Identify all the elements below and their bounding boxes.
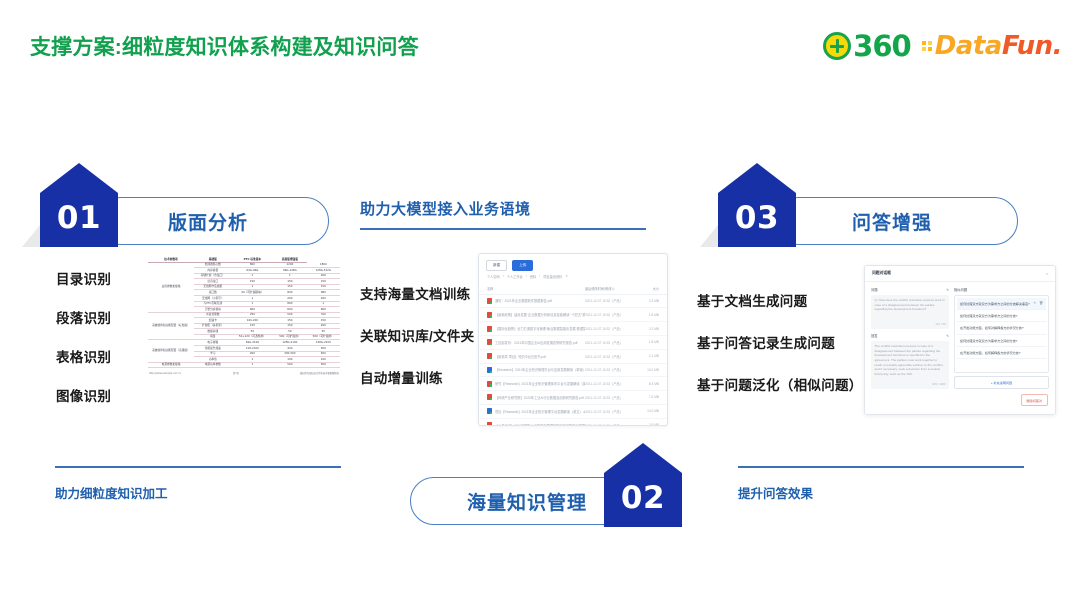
table-footer-right: 版权所有侵权必究所有技术参数解释权: [245, 370, 340, 376]
breadcrumb-sep: ›: [526, 274, 527, 278]
doclist-row-meta: 2021-12-07 10:33（产品）: [585, 340, 637, 345]
doclist-row-size: 8.4 MB: [637, 382, 659, 386]
screenshot-layout-table: 技术参数项 基础版 PTC 标准版本 高级版增强版 主机参数和规格处理器核心数8…: [148, 257, 340, 397]
doclist-row-meta: 2021-12-07 10:33（产品）: [585, 395, 637, 400]
doclist-row[interactable]: 【最新政策】建设发展·企业数据分析和信息智能解读·“十四五”重点项目综…2021…: [479, 308, 667, 322]
add-similar-question-button[interactable]: + 补充说明问题: [954, 376, 1049, 389]
doclist-row-name: 【最新政策】建设发展·企业数据分析和信息智能解读·“十四五”重点项目综…: [495, 312, 585, 317]
file-pdf-icon: [487, 381, 492, 387]
badge-pentagon-02: 02: [604, 443, 682, 527]
doclist-header-row: 名称 最后修改时间/修改人 大小: [479, 283, 667, 295]
table-footer-row: http://www.example.com.cn 第7页 版权所有侵权必究所有…: [148, 370, 340, 376]
close-icon[interactable]: ×: [1046, 272, 1048, 276]
bullet-item: 基于文档生成问题: [697, 290, 863, 310]
qa-similar-item[interactable]: 如何处理双方就双方为需求方之间的分歧解决事宜?✎🗑: [957, 298, 1046, 310]
doclist-row-name: 项目【Research】2021年企业知识管理平台发展解读（英文）.docx: [495, 409, 585, 414]
middle-heading-rule: [360, 228, 646, 230]
middle-column-heading: 助力大模型接入业务语境: [360, 198, 531, 219]
qa-similar-text: 如何处理双方就双方为需求方之间的分歧解决事宜?: [960, 301, 1030, 306]
file-pdf-icon: [487, 312, 492, 318]
breadcrumb-sep: ›: [539, 274, 540, 278]
doclist-row-size: 14.0 MB: [637, 409, 659, 413]
doclist-col-name: 名称: [487, 286, 585, 291]
page-title: 支撑方案:细粒度知识体系构建及知识问答: [30, 31, 419, 61]
qa-dialog-footer: 删除问答对: [865, 394, 1055, 411]
doclist-row-size: 2.1 MB: [637, 354, 659, 358]
doclist-row-meta: 2021-12-07 10:32（产品）: [585, 312, 637, 317]
qa-similar-text: 在开发功能方面，如何解释各方的状况分歧?: [960, 350, 1021, 355]
doclist-row-name: 工信部发布：2021年中国企业AI应用发展态势研究报告.pdf: [495, 340, 577, 345]
doclist-row[interactable]: 【公益活动】2021年国际人工智能在数据研究和应用智能化发展分析报告.pdf20…: [479, 419, 667, 426]
doclist-row-size: 3.2 MB: [637, 327, 659, 331]
breadcrumb-item[interactable]: 项目建设资料: [543, 274, 562, 279]
qa-similar-item[interactable]: 如何处理双方就双方为需求方之间的分歧?: [957, 310, 1046, 322]
breadcrumb-item[interactable]: 资料: [530, 274, 536, 279]
doclist-row[interactable]: 通知：2021年企业数据软件数据报告.pdf2021-12-07 10:32（产…: [479, 295, 667, 309]
qa-question-counter: 121 / 50: [935, 322, 945, 326]
section-badge-03[interactable]: 问答增强 03: [718, 163, 1018, 273]
doclist-row[interactable]: 【新篇章 项目】知识中台白皮书.pdf2021-12-07 10:33（产品）2…: [479, 350, 667, 364]
doclist-row[interactable]: 工信部发布：2021年中国企业AI应用发展态势研究报告.pdf2021-12-0…: [479, 336, 667, 350]
qa-answer-box[interactable]: The conflict resolution process in case …: [871, 341, 949, 390]
bullet-item: 基于问答记录生成问题: [697, 332, 863, 352]
doclist-row-meta: 2021-12-07 10:33（产品）: [585, 354, 637, 359]
bullet-item: 目录识别: [56, 268, 111, 288]
qa-question-label-row: 问题 ✎: [871, 287, 949, 292]
badge-pill-01: 版面分析: [97, 197, 329, 245]
qa-question-box[interactable]: Q: How does the conflict resolution proc…: [871, 295, 949, 330]
logo-datafun-fun: Fun.: [1002, 31, 1062, 61]
file-pdf-icon: [487, 326, 492, 332]
qa-question-label: 问题: [871, 287, 878, 292]
logo-bar: 360 DataFun.: [823, 28, 1062, 64]
trash-icon[interactable]: 🗑: [1039, 301, 1043, 305]
badge-pill-03: 问答增强: [775, 197, 1018, 245]
doclist-row-name: 【Research】2021年企业知识管理平台与应用发展解读（草案）.docx: [495, 367, 585, 372]
qa-similar-item[interactable]: 在开发功能方面，如何解释各方的状况分歧?: [957, 347, 1046, 359]
qa-answer-text: The conflict resolution process in case …: [875, 344, 944, 376]
doclist-row-name: 研究【Research】2021年企业知识管理体系平台与发展解读（英文）.pdf: [495, 381, 585, 386]
edit-pencil-icon[interactable]: ✎: [1033, 301, 1036, 305]
screenshot-qa-dialog: 问题对话框 × 问题 ✎ Q: How does the conflict re…: [864, 265, 1056, 415]
bullet-item: 自动增量训练: [360, 367, 474, 387]
caption-rule-right: [738, 466, 1024, 468]
qa-similar-item[interactable]: 在开发功能方面，如何对解释各方的状况分歧?: [957, 322, 1046, 334]
badge-pentagon-03: 03: [718, 163, 796, 247]
section-number-01: 01: [57, 203, 101, 247]
360-shield-icon: [823, 32, 851, 60]
section-title-03: 问答增强: [852, 208, 932, 235]
qa-similar-label-row: 相似问题: [954, 287, 1049, 292]
qa-similar-text: 如何处理双方就双方为需求方之间的分歧?: [960, 338, 1017, 343]
qa-similar-item[interactable]: 如何处理双方就双方为需求方之间的分歧?: [957, 335, 1046, 347]
doclist-row-size: 2.3 MB: [637, 299, 659, 303]
breadcrumb-item[interactable]: 个人工作台: [507, 274, 523, 279]
table-row-group-label: 主机参数和规格: [148, 262, 194, 312]
bullet-item: 图像识别: [56, 385, 111, 405]
qa-dialog-titlebar: 问题对话框 ×: [865, 266, 1055, 282]
doclist-col-meta: 最后修改时间/修改人: [585, 286, 637, 291]
qa-similar-text: 在开发功能方面，如何对解释各方的状况分歧?: [960, 325, 1024, 330]
table-row-label: 电源功率参数: [194, 362, 232, 368]
table-footer-center: 第7页: [227, 370, 246, 376]
table-row-group-label: 电源参数和规格: [148, 362, 194, 368]
table-cell: 1: [232, 362, 274, 368]
doclist-row-name: 【公益活动】2021年国际人工智能在数据研究和应用智能化发展分析报告.pdf: [495, 423, 585, 426]
table-cell: 500: [273, 362, 306, 368]
qa-right-pane: 相似问题 如何处理双方就双方为需求方之间的分歧解决事宜?✎🗑如何处理双方就双方为…: [954, 287, 1049, 389]
file-pdf-icon: [487, 422, 492, 426]
table-row: 电源参数和规格电源功率参数1500500: [148, 362, 340, 368]
doclist-row-meta: 2021-12-07 10:33（产品）: [585, 367, 637, 372]
table-row-group-label: 系统软件和功能配置（高级版）: [148, 340, 194, 362]
logo-datafun: DataFun.: [922, 33, 1062, 59]
doclist-row-name: 【新篇章 项目】知识中台白皮书.pdf: [495, 354, 546, 359]
table-cell: 500: [307, 362, 340, 368]
bullet-item: 段落识别: [56, 307, 111, 327]
doclist-row[interactable]: 研究【Research】2021年企业知识管理体系平台与发展解读（英文）.pdf…: [479, 377, 667, 391]
doclist-row-size: 1.8 MB: [637, 340, 659, 344]
caption-rule-left: [55, 466, 341, 468]
doclist-row-meta: 2021-12-07 10:32（产品）: [585, 326, 637, 331]
file-doc-icon: [487, 367, 492, 373]
qa-dialog-body: 问题 ✎ Q: How does the conflict resolution…: [865, 282, 1055, 394]
doclist-row-name: 通知：2021年企业数据软件数据报告.pdf: [495, 298, 552, 303]
bullets-section-03: 基于文档生成问题 基于问答记录生成问题 基于问题泛化（相似问题）: [697, 290, 863, 416]
qa-similar-text: 如何处理双方就双方为需求方之间的分歧?: [960, 313, 1017, 318]
doclist-row-meta: 2021-12-07 10:33（产品）: [585, 409, 637, 414]
doclist-row-size: 13.0 MB: [637, 368, 659, 372]
edit-pencil-icon[interactable]: ✎: [565, 274, 568, 278]
edit-pencil-icon[interactable]: ✎: [946, 288, 949, 292]
section-number-03: 03: [735, 203, 779, 247]
doclist-row[interactable]: 【Research】2021年企业知识管理平台与应用发展解读（草案）.docx2…: [479, 364, 667, 378]
qa-similar-list: 如何处理双方就双方为需求方之间的分歧解决事宜?✎🗑如何处理双方就双方为需求方之间…: [954, 295, 1049, 374]
doclist-row-name: 【国际化趋势】全力打造数字化管理·聚合数据智能化发展·数据智能化发展解…: [495, 326, 585, 331]
qa-dialog-title: 问题对话框: [872, 271, 891, 276]
bullet-item: 基于问题泛化（相似问题）: [697, 374, 863, 394]
screenshot-document-list: 新建 上传 个人空间 › 个人工作台 › 资料 › 项目建设资料 ✎ 名称 最后…: [478, 253, 668, 426]
qa-question-text: Q: How does the conflict resolution proc…: [875, 298, 945, 311]
datafun-dots-icon: [922, 41, 932, 51]
breadcrumb-item[interactable]: 个人空间: [487, 274, 500, 279]
bullet-item: 支持海量文档训练: [360, 283, 474, 303]
doclist-row-meta: 2021-12-07 10:32（产品）: [585, 298, 637, 303]
caption-right: 提升问答效果: [738, 483, 813, 502]
doclist-row[interactable]: 【科研产业研究院】2020年工业AI行业数据及创新研究报告.pdf2021-12…: [479, 391, 667, 405]
logo-360: 360: [823, 32, 911, 61]
section-title-02: 海量知识管理: [467, 488, 587, 515]
delete-qa-button[interactable]: 删除问答对: [1021, 394, 1048, 406]
doclist-row-size: 2.8 MB: [637, 423, 659, 426]
breadcrumb: 个人空间 › 个人工作台 › 资料 › 项目建设资料 ✎: [479, 274, 667, 283]
qa-left-pane: 问题 ✎ Q: How does the conflict resolution…: [871, 287, 949, 389]
doclist-toolbar: 新建 上传: [479, 254, 667, 274]
doclist-row-meta: 2021-12-07 10:33（产品）: [585, 381, 637, 386]
section-title-01: 版面分析: [168, 208, 248, 235]
bullets-section-02: 支持海量文档训练 关联知识库/文件夹 自动增量训练: [360, 283, 474, 409]
caption-left: 助力细粒度知识加工: [55, 483, 168, 502]
table-row-group-label: 系统软件和功能配置（标准版）: [148, 312, 194, 340]
doclist-row-size: 7.6 MB: [637, 395, 659, 399]
section-badge-02[interactable]: 海量知识管理 02: [410, 443, 682, 553]
file-pdf-icon: [487, 353, 492, 359]
qa-answer-label-row: 回答 ✎: [871, 333, 949, 338]
edit-pencil-icon[interactable]: ✎: [946, 334, 949, 338]
logo-datafun-data: Data: [935, 31, 1002, 61]
qa-answer-counter: 315 / 1000: [932, 382, 945, 386]
file-pdf-icon: [487, 394, 492, 400]
upload-button[interactable]: 上传: [512, 260, 533, 271]
badge-pentagon-01: 01: [40, 163, 118, 247]
file-doc-icon: [487, 408, 492, 414]
doclist-row[interactable]: 【国际化趋势】全力打造数字化管理·聚合数据智能化发展·数据智能化发展解…2021…: [479, 322, 667, 336]
bullet-item: 表格识别: [56, 346, 111, 366]
bullet-item: 关联知识库/文件夹: [360, 325, 474, 345]
table-footer-left: http://www.example.com.cn: [148, 370, 227, 376]
logo-datafun-text: DataFun.: [935, 33, 1062, 59]
breadcrumb-sep: ›: [503, 274, 504, 278]
doclist-row-meta: 2021-12-07 10:33（产品）: [585, 423, 637, 426]
new-button[interactable]: 新建: [486, 260, 507, 271]
file-pdf-icon: [487, 298, 492, 304]
doclist-row[interactable]: 项目【Research】2021年企业知识管理平台发展解读（英文）.docx20…: [479, 405, 667, 419]
slide-root: 支撑方案:细粒度知识体系构建及知识问答 360 DataFun. 版面分析 01…: [0, 0, 1080, 608]
file-pdf-icon: [487, 339, 492, 345]
doclist-col-size: 大小: [637, 286, 659, 291]
bullets-section-01: 目录识别 段落识别 表格识别 图像识别: [56, 268, 111, 424]
spec-table-footer: http://www.example.com.cn 第7页 版权所有侵权必究所有…: [148, 370, 340, 376]
doclist-row-name: 【科研产业研究院】2020年工业AI行业数据及创新研究报告.pdf: [495, 395, 584, 400]
spec-table: 技术参数项 基础版 PTC 标准版本 高级版增强版 主机参数和规格处理器核心数8…: [148, 257, 340, 368]
qa-similar-label: 相似问题: [954, 287, 967, 292]
doclist-row-size: 1.8 MB: [637, 313, 659, 317]
section-number-02: 02: [621, 483, 665, 527]
qa-answer-label: 回答: [871, 333, 878, 338]
logo-360-text: 360: [853, 32, 911, 61]
